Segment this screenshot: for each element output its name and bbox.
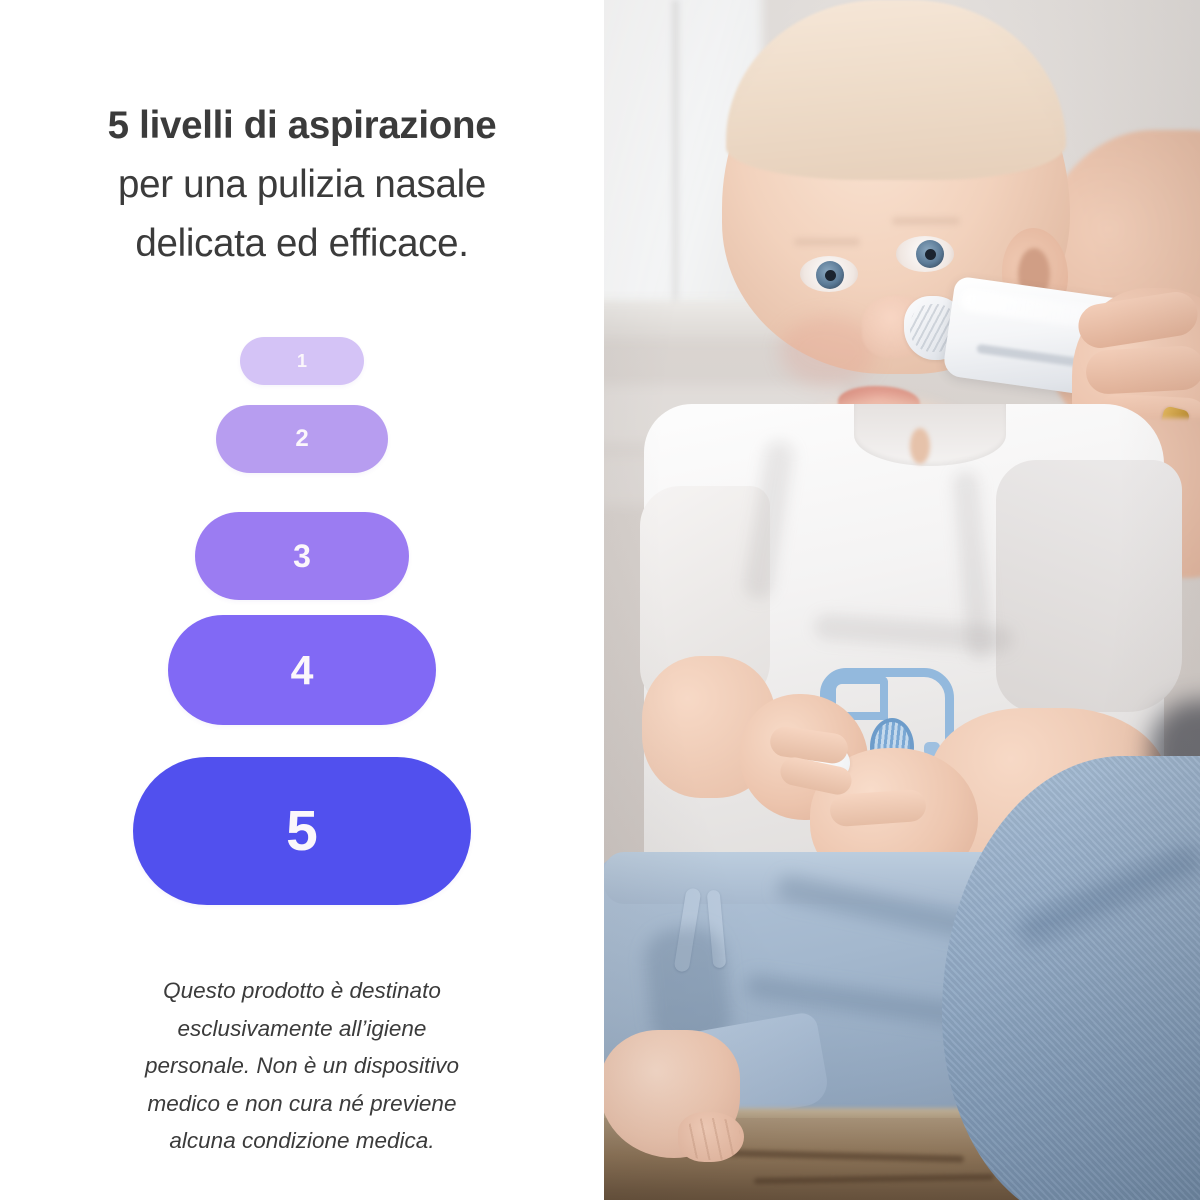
suction-level-number-4: 4 <box>291 650 314 691</box>
legal-disclaimer: Questo prodotto è destinato esclusivamen… <box>0 972 604 1160</box>
headline-line-2: per una pulizia nasale <box>34 155 570 214</box>
suction-level-pill-3: 3 <box>195 512 409 600</box>
suction-level-pill-2: 2 <box>216 405 388 473</box>
suction-level-number-2: 2 <box>295 427 308 451</box>
suction-level-number-3: 3 <box>293 540 311 572</box>
suction-level-number-5: 5 <box>286 803 318 860</box>
suction-level-pill-1: 1 <box>240 337 364 385</box>
disclaimer-line-1: Questo prodotto è destinato <box>70 972 534 1010</box>
headline-line-1: 5 livelli di aspirazione <box>34 96 570 155</box>
promo-graphic: 5 livelli di aspirazione per una pulizia… <box>0 0 1200 1200</box>
suction-level-pill-5: 5 <box>133 757 471 905</box>
disclaimer-line-2: esclusivamente all’igiene <box>70 1010 534 1048</box>
left-content-panel: 5 livelli di aspirazione per una pulizia… <box>0 0 604 1200</box>
suction-level-pill-4: 4 <box>168 615 436 725</box>
disclaimer-line-5: alcuna condizione medica. <box>70 1122 534 1160</box>
headline-line-3: delicata ed efficace. <box>34 214 570 273</box>
suction-level-number-1: 1 <box>297 352 307 370</box>
disclaimer-line-3: personale. Non è un dispositivo <box>70 1047 534 1085</box>
page-title: 5 livelli di aspirazione per una pulizia… <box>0 96 604 273</box>
photo-scene <box>604 0 1200 1200</box>
suction-level-stack: 1 2 3 4 5 <box>0 337 604 907</box>
photo-vignette <box>604 0 1200 1200</box>
disclaimer-line-4: medico e non cura né previene <box>70 1085 534 1123</box>
product-lifestyle-photo <box>604 0 1200 1200</box>
